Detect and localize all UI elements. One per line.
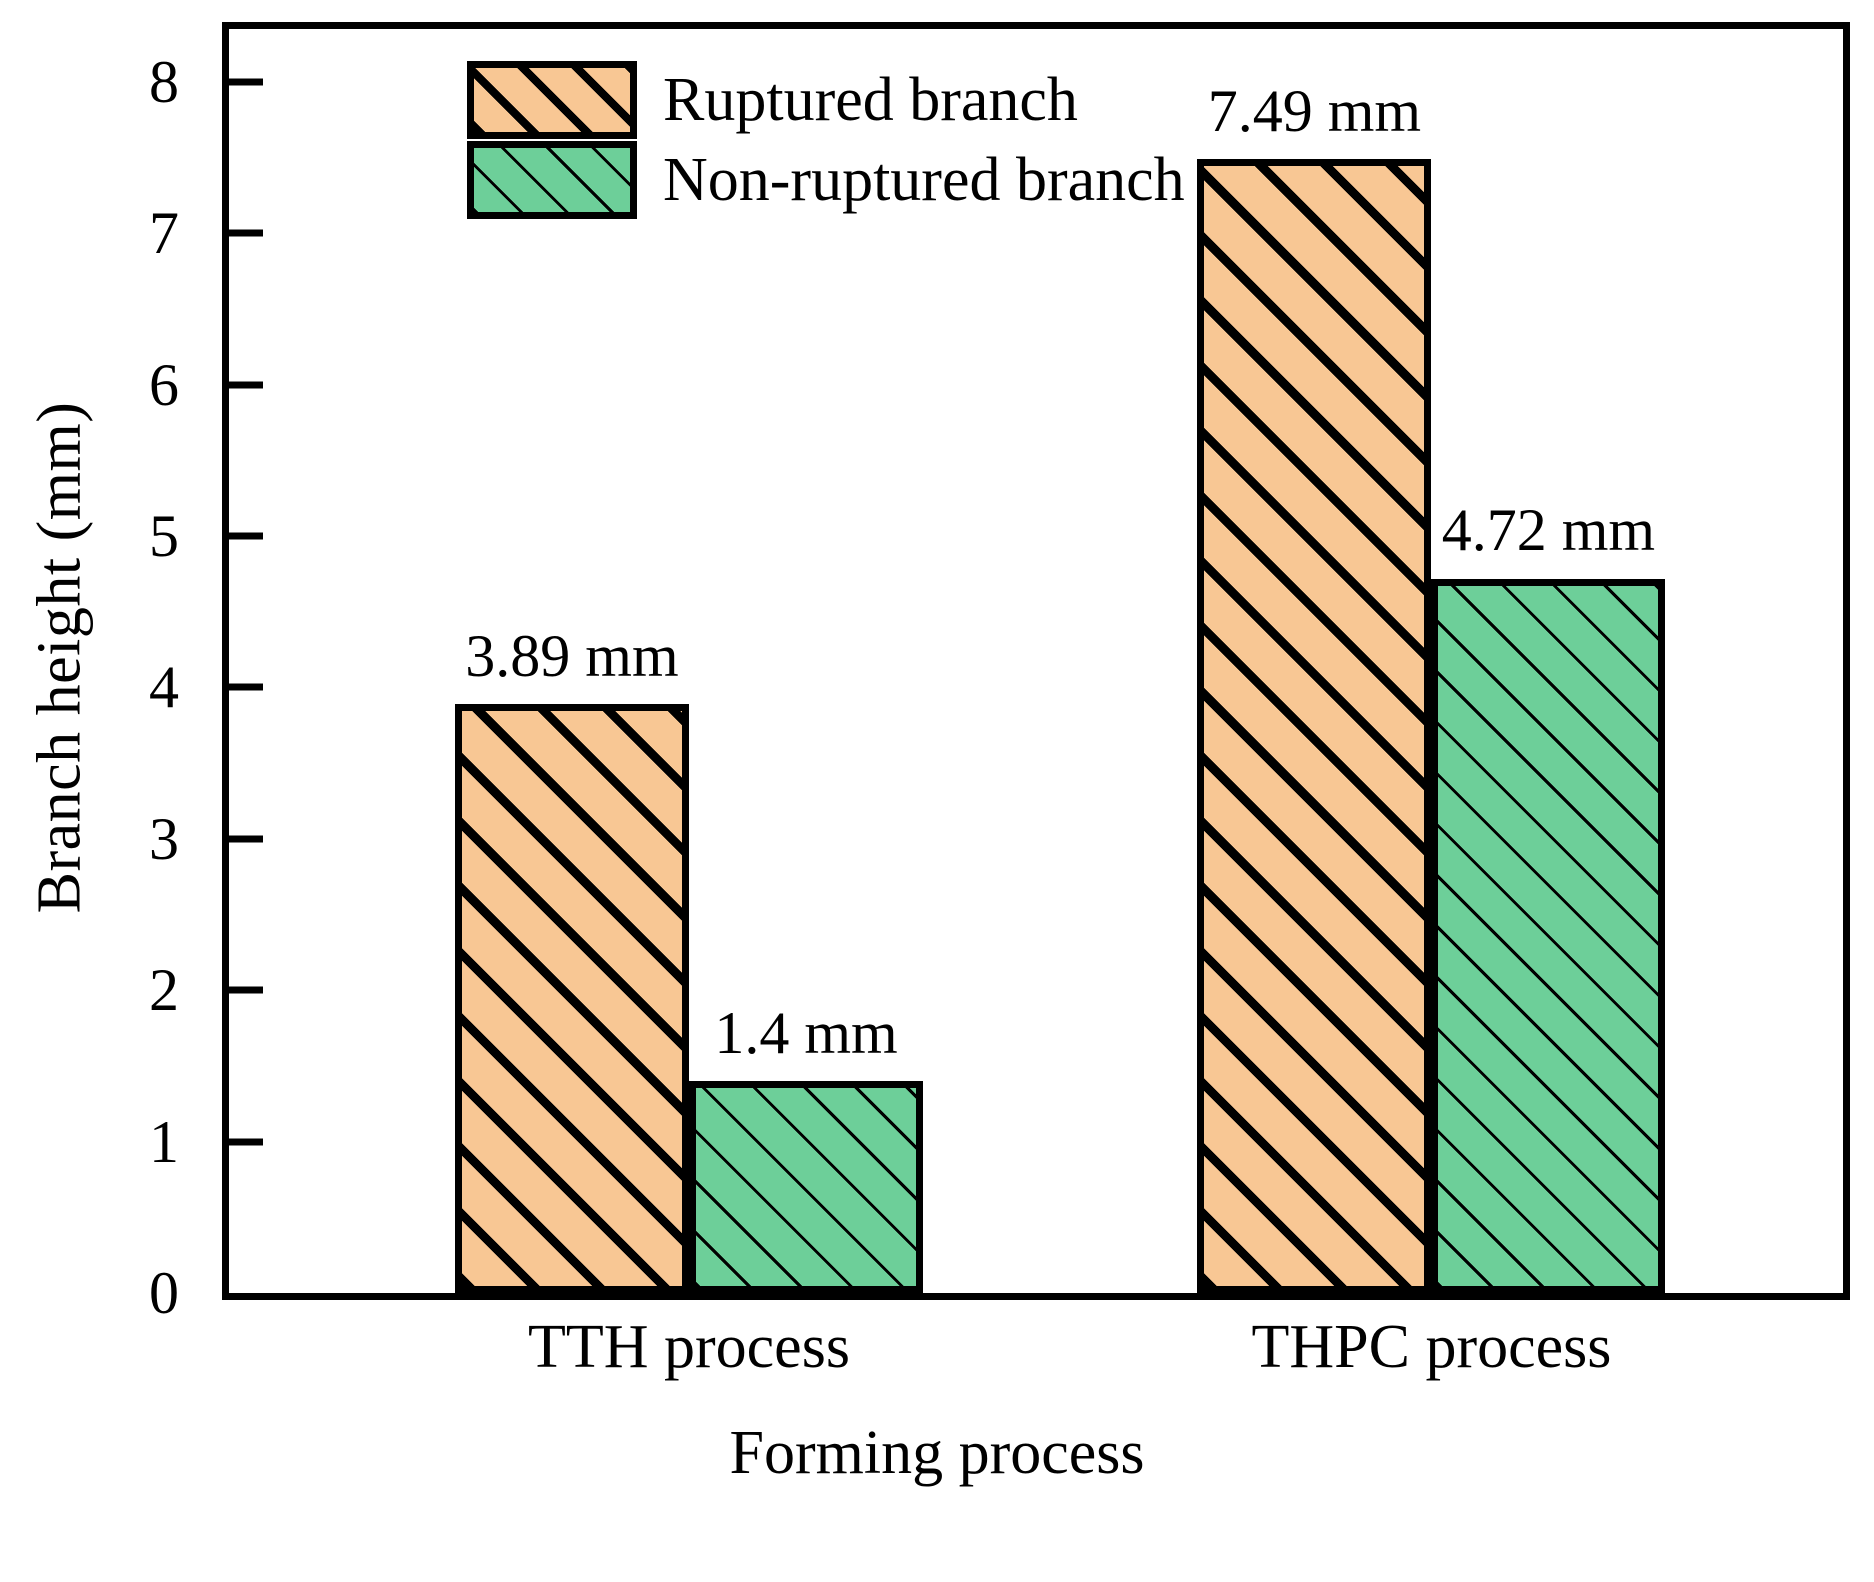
bar-ruptured-1[interactable] — [455, 704, 689, 1293]
y-axis-tick — [229, 381, 263, 388]
y-axis-tick — [229, 533, 263, 540]
bar-value-label: 3.89 mm — [465, 622, 678, 691]
y-axis-tick-label: 5 — [59, 506, 179, 566]
chart-figure: Branch height (mm) Forming process 01234… — [0, 0, 1874, 1582]
x-axis-label-1: TTH process — [528, 1312, 850, 1383]
legend-item-non-ruptured[interactable]: Non-ruptured branch — [467, 141, 1185, 219]
y-axis-tick-label: 8 — [59, 52, 179, 112]
y-axis-tick — [229, 684, 263, 691]
bar-value-label: 4.72 mm — [1442, 496, 1655, 565]
y-axis-tick-label: 3 — [59, 809, 179, 869]
y-axis-tick-label: 7 — [59, 203, 179, 263]
x-axis-label-2: THPC process — [1251, 1312, 1611, 1383]
bar-value-label: 7.49 mm — [1208, 77, 1421, 146]
y-axis-tick — [229, 835, 263, 842]
bar-ruptured-2[interactable] — [1197, 159, 1431, 1293]
y-axis-tick-label: 2 — [59, 960, 179, 1020]
plot-area: 012345678 3.89 mm1.4 mm7.49 mm4.72 mm Ru… — [222, 22, 1850, 1300]
legend: Ruptured branch Non-ruptured branch — [467, 61, 1185, 221]
legend-swatch-ruptured-icon — [467, 61, 637, 139]
y-axis-tick-label: 0 — [59, 1263, 179, 1323]
x-axis-title: Forming process — [0, 1418, 1874, 1489]
y-axis-tick — [229, 1138, 263, 1145]
y-axis-tick — [229, 230, 263, 237]
legend-label-ruptured: Ruptured branch — [663, 69, 1078, 131]
y-axis-tick-label: 6 — [59, 355, 179, 415]
legend-label-non-ruptured: Non-ruptured branch — [663, 149, 1185, 211]
y-axis-tick — [229, 78, 263, 85]
bar-non-ruptured-2[interactable] — [1431, 579, 1665, 1294]
y-axis-tick-label: 4 — [59, 657, 179, 717]
legend-swatch-non-ruptured-icon — [467, 141, 637, 219]
y-axis-tick — [229, 987, 263, 994]
bar-non-ruptured-1[interactable] — [689, 1081, 923, 1293]
bar-value-label: 1.4 mm — [714, 999, 897, 1068]
y-axis-tick-label: 1 — [59, 1112, 179, 1172]
legend-item-ruptured[interactable]: Ruptured branch — [467, 61, 1185, 139]
